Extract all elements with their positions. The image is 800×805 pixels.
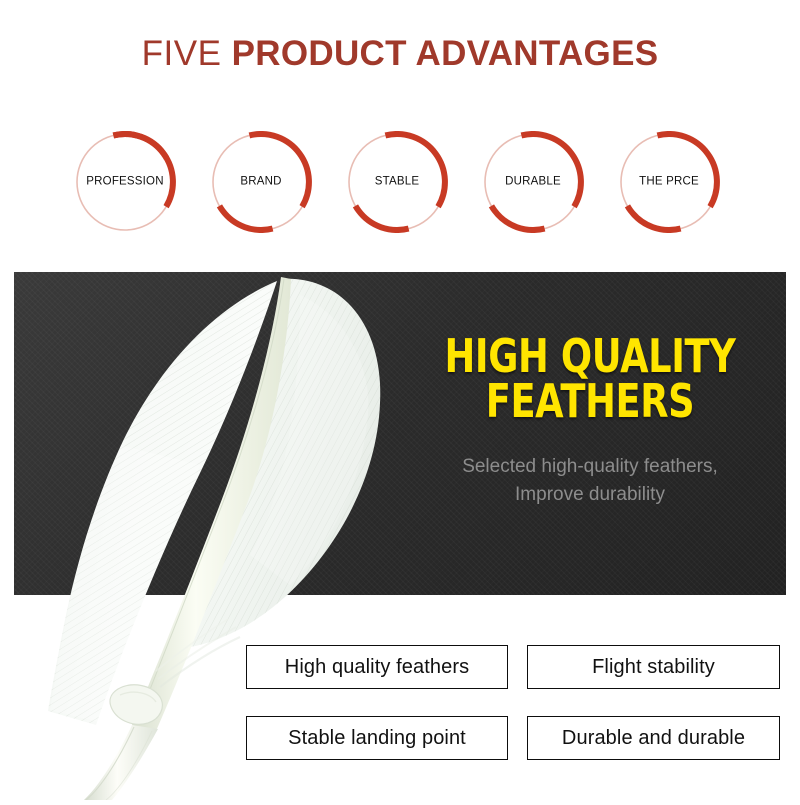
advantage-badge-label: BRAND — [238, 173, 283, 191]
advantage-badge-label: PROFESSION — [84, 173, 165, 191]
page-title: FIVE PRODUCT ADVANTAGES — [0, 34, 800, 74]
hero-subtitle: Selected high-quality feathers, Improve … — [404, 453, 776, 508]
feature-box-stable-landing-point[interactable]: Stable landing point — [246, 716, 508, 760]
feature-box-flight-stability[interactable]: Flight stability — [527, 645, 780, 689]
advantage-badge-brand[interactable]: BRAND — [210, 131, 312, 233]
feature-row: Stable landing point Durable and durable — [246, 716, 780, 760]
advantage-badge-stable[interactable]: STABLE — [346, 131, 448, 233]
advantage-badge-label: DURABLE — [503, 173, 563, 191]
hero-headline: HIGH QUALITY FEATHERS — [441, 334, 739, 423]
feature-box-high-quality-feathers[interactable]: High quality feathers — [246, 645, 508, 689]
feather-quill — [84, 725, 158, 800]
advantage-badge-price[interactable]: THE PRCE — [618, 131, 720, 233]
advantage-badge-list: PROFESSION BRAND STABLE DURABLE — [0, 131, 800, 235]
advantage-badge-profession[interactable]: PROFESSION — [74, 131, 176, 233]
advantage-badge-durable[interactable]: DURABLE — [482, 131, 584, 233]
feature-row: High quality feathers Flight stability — [246, 645, 780, 689]
feature-box-grid: High quality feathers Flight stability S… — [246, 645, 780, 787]
feature-box-durable-and-durable[interactable]: Durable and durable — [527, 716, 780, 760]
feather-binding-collar — [110, 685, 162, 724]
advantage-badge-label: THE PRCE — [637, 173, 701, 191]
page-title-light: FIVE — [142, 34, 232, 73]
feather-base-wisps — [156, 619, 240, 687]
hero-text-block: HIGH QUALITY FEATHERS Selected high-qual… — [404, 334, 776, 508]
page-title-bold: PRODUCT ADVANTAGES — [232, 34, 659, 73]
advantage-badge-label: STABLE — [373, 173, 421, 191]
hero-banner: HIGH QUALITY FEATHERS Selected high-qual… — [14, 272, 786, 595]
